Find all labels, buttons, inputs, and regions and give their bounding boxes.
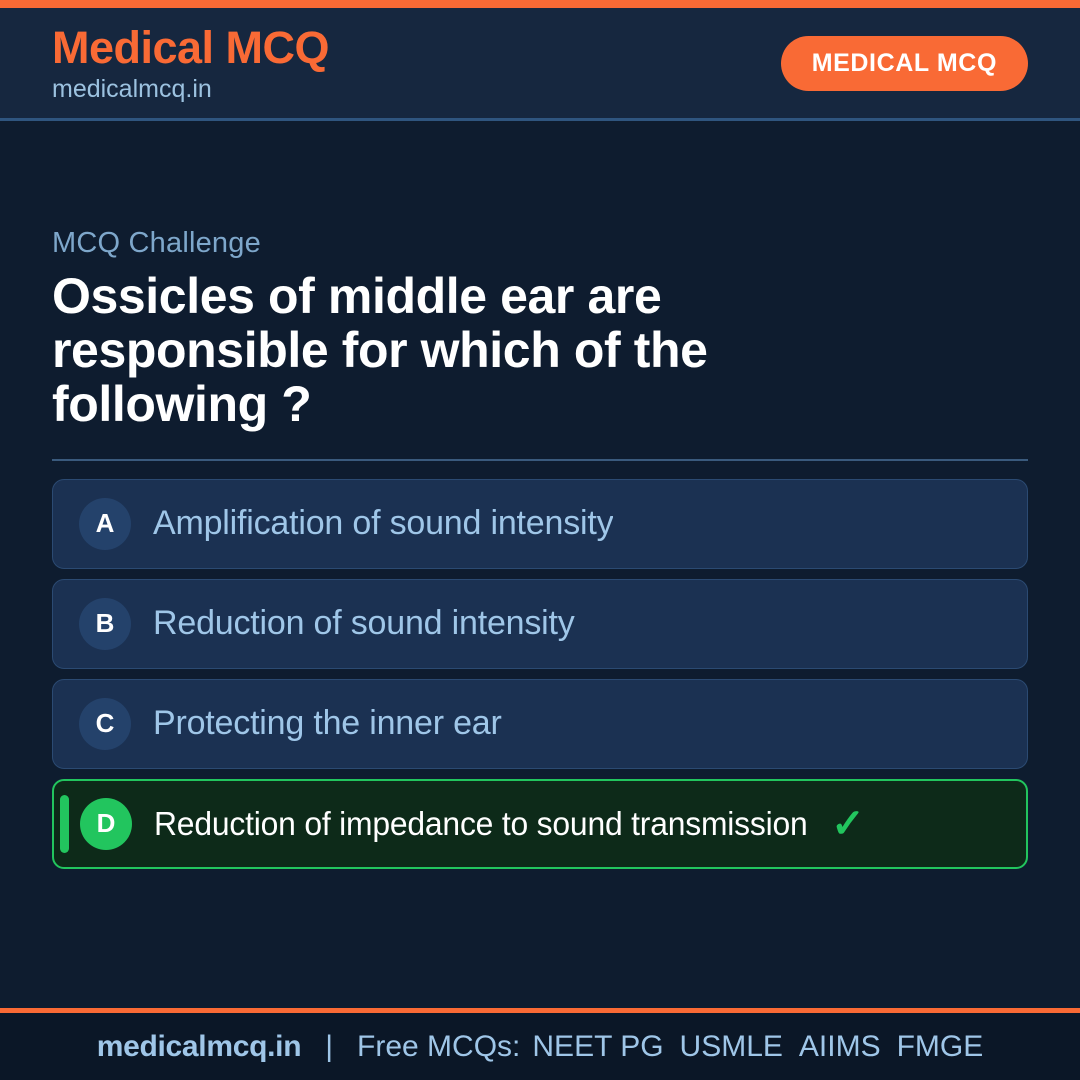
brand-subtitle: medicalmcq.in	[52, 77, 329, 102]
option-b[interactable]: B Reduction of sound intensity ✓	[52, 579, 1028, 669]
brand: Medical MCQ medicalmcq.in	[52, 25, 329, 102]
check-icon: ✓	[831, 804, 865, 844]
option-letter-badge: B	[79, 598, 131, 650]
top-accent-bar	[0, 0, 1080, 8]
footer-site-link[interactable]: medicalmcq.in	[97, 1030, 302, 1064]
option-c[interactable]: C Protecting the inner ear ✓	[52, 679, 1028, 769]
footer-exam-usmle[interactable]: USMLE	[680, 1030, 783, 1064]
question-divider	[52, 459, 1028, 461]
brand-title: Medical MCQ	[52, 25, 329, 70]
option-letter-badge: A	[79, 498, 131, 550]
footer-label: Free MCQs:	[357, 1030, 520, 1064]
footer-exam-aiims[interactable]: AIIMS	[799, 1030, 881, 1064]
footer-separator: |	[325, 1030, 333, 1064]
option-text: Reduction of sound intensity	[153, 604, 575, 643]
main-content: MCQ Challenge Ossicles of middle ear are…	[0, 121, 1080, 1008]
option-d[interactable]: D Reduction of impedance to sound transm…	[52, 779, 1028, 869]
footer-exam-neet-pg[interactable]: NEET PG	[532, 1030, 663, 1064]
mcq-card: Medical MCQ medicalmcq.in MEDICAL MCQ MC…	[0, 0, 1080, 1080]
options-list: A Amplification of sound intensity ✓ B R…	[52, 479, 1028, 869]
footer-exam-fmge[interactable]: FMGE	[897, 1030, 984, 1064]
option-text: Reduction of impedance to sound transmis…	[154, 805, 808, 843]
question-text: Ossicles of middle ear are responsible f…	[52, 269, 932, 431]
eyebrow-label: MCQ Challenge	[52, 227, 1028, 260]
option-a[interactable]: A Amplification of sound intensity ✓	[52, 479, 1028, 569]
option-text: Protecting the inner ear	[153, 704, 502, 743]
brand-badge[interactable]: MEDICAL MCQ	[781, 36, 1028, 91]
footer-content: medicalmcq.in | Free MCQs: NEET PG USMLE…	[97, 1030, 984, 1064]
correct-accent-bar	[60, 795, 69, 853]
footer: medicalmcq.in | Free MCQs: NEET PG USMLE…	[0, 1008, 1080, 1080]
header: Medical MCQ medicalmcq.in MEDICAL MCQ	[0, 8, 1080, 121]
option-letter-badge: C	[79, 698, 131, 750]
option-letter-badge: D	[80, 798, 132, 850]
option-text: Amplification of sound intensity	[153, 504, 613, 543]
